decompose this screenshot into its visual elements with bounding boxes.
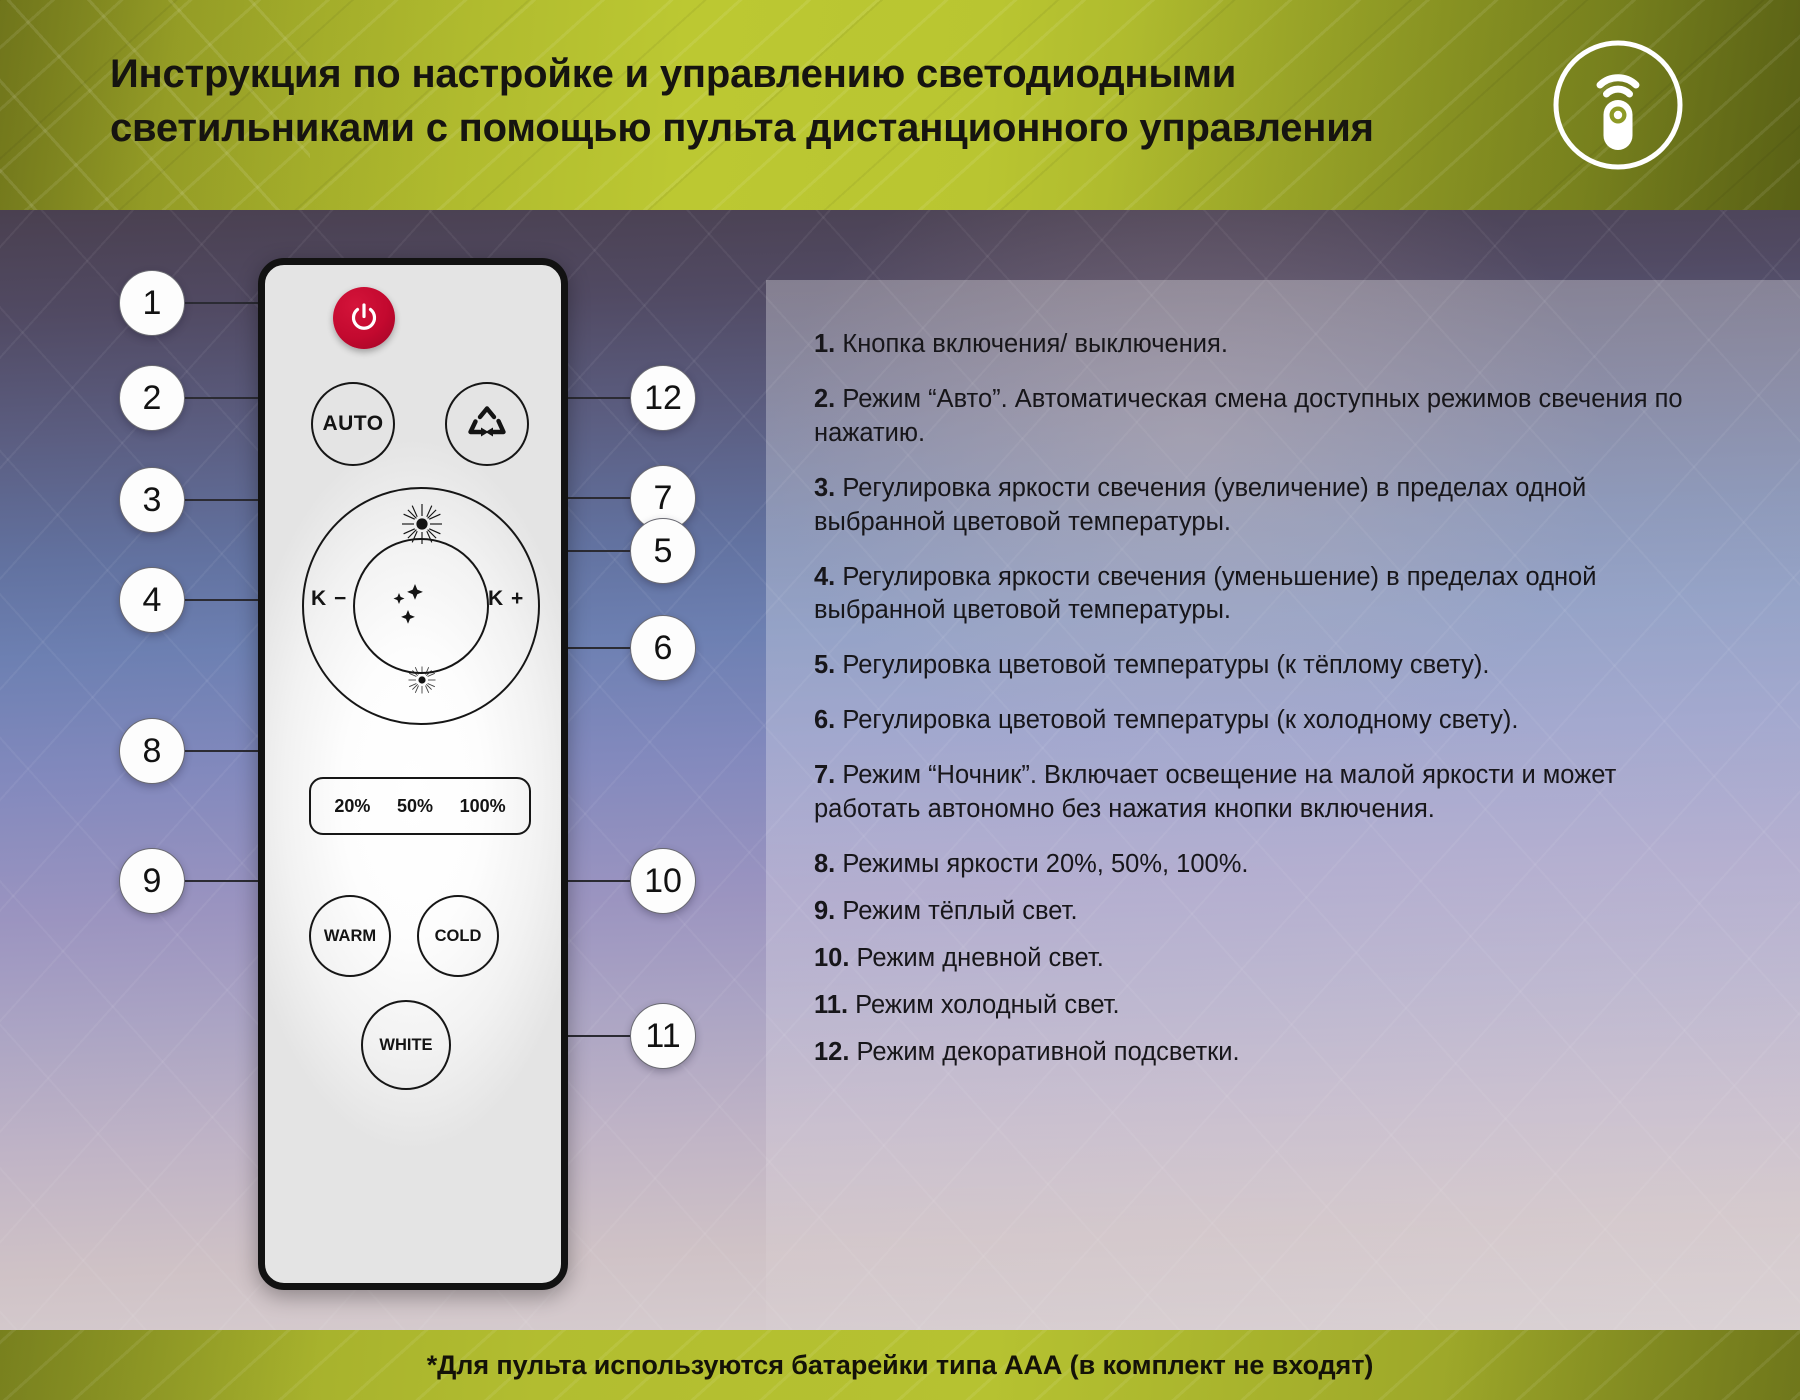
callout-11[interactable]: 11 [630,1003,696,1069]
callout-2[interactable]: 2 [119,365,185,431]
legend-item-10: 10. Режим дневной свет. [814,942,1694,976]
white-button-label: WHITE [379,1036,432,1055]
level-20[interactable]: 20% [334,796,370,817]
legend-item-5: 5. Регулировка цветовой температуры (к т… [814,649,1694,683]
decorative-mode-button[interactable] [445,382,529,466]
callout-8[interactable]: 8 [119,718,185,784]
legend-num-6: 6. [814,706,835,734]
legend-num-8: 8. [814,850,835,878]
legend-num-4: 4. [814,563,835,591]
legend-num-7: 7. [814,761,835,789]
legend-text-7: Режим “Ночник”. Включает освещение на ма… [814,761,1616,823]
callout-10[interactable]: 10 [630,848,696,914]
legend-item-1: 1. Кнопка включения/ выключения. [814,328,1694,362]
page-title-line-1: Инструкция по настройке и управлению све… [110,48,1530,102]
remote-control-device: AUTO [258,258,568,1290]
legend-num-10: 10. [814,944,849,972]
callout-1[interactable]: 1 [119,270,185,336]
legend-panel: 1. Кнопка включения/ выключения. 2. Режи… [766,280,1800,1330]
recycle-loop-icon [462,399,512,449]
legend-item-12: 12. Режим декоративной подсветки. [814,1036,1694,1070]
auto-button-label: AUTO [322,412,383,436]
legend-num-1: 1. [814,330,835,358]
page-header: Инструкция по настройке и управлению све… [0,0,1800,210]
warm-light-button[interactable]: WARM [309,895,391,977]
white-light-button[interactable]: WHITE [361,1000,451,1090]
battery-note: *Для пульта используются батарейки типа … [427,1350,1373,1381]
legend-text-4: Регулировка яркости свечения (уменьшение… [814,563,1596,625]
legend-item-3: 3. Регулировка яркости свечения (увеличе… [814,472,1694,540]
legend-num-2: 2. [814,385,835,413]
kelvin-minus-label[interactable]: K − [311,587,347,611]
night-mode-button[interactable] [353,538,489,674]
kelvin-plus-label[interactable]: K + [488,587,524,611]
legend-text-6: Регулировка цветовой температуры (к холо… [835,706,1518,734]
power-button[interactable] [333,287,395,349]
callout-12[interactable]: 12 [630,365,696,431]
auto-mode-button[interactable]: AUTO [311,382,395,466]
legend-num-12: 12. [814,1038,849,1066]
power-icon [347,301,381,335]
legend-num-5: 5. [814,651,835,679]
legend-text-8: Режимы яркости 20%, 50%, 100%. [835,850,1248,878]
legend-text-3: Регулировка яркости свечения (увеличение… [814,474,1586,536]
legend-text-5: Регулировка цветовой температуры (к тёпл… [835,651,1489,679]
legend-num-3: 3. [814,474,835,502]
legend-item-8: 8. Режимы яркости 20%, 50%, 100%. [814,848,1694,882]
remote-control-signal-icon [1545,32,1691,178]
legend-text-12: Режим декоративной подсветки. [849,1038,1239,1066]
legend-text-10: Режим дневной свет. [849,944,1103,972]
legend-text-2: Режим “Авто”. Автоматическая смена досту… [814,385,1683,447]
page-footer: *Для пульта используются батарейки типа … [0,1330,1800,1400]
page-title-line-2: светильниками с помощью пульта дистанцио… [110,102,1530,156]
callout-6[interactable]: 6 [630,615,696,681]
legend-item-11: 11. Режим холодный свет. [814,989,1694,1023]
level-100[interactable]: 100% [460,796,506,817]
level-50[interactable]: 50% [397,796,433,817]
legend-text-1: Кнопка включения/ выключения. [835,330,1228,358]
cold-button-label: COLD [435,927,482,946]
legend-item-4: 4. Регулировка яркости свечения (уменьше… [814,561,1694,629]
legend-item-6: 6. Регулировка цветовой температуры (к х… [814,704,1694,738]
warm-button-label: WARM [324,927,376,946]
legend-text-11: Режим холодный свет. [848,991,1120,1019]
page-title: Инструкция по настройке и управлению све… [110,48,1530,155]
legend-num-11: 11. [814,991,848,1019]
callout-9[interactable]: 9 [119,848,185,914]
legend-item-2: 2. Режим “Авто”. Автоматическая смена до… [814,383,1694,451]
cold-light-button[interactable]: COLD [417,895,499,977]
legend-text-9: Режим тёплый свет. [835,897,1077,925]
callout-5[interactable]: 5 [630,518,696,584]
legend-num-9: 9. [814,897,835,925]
main-illustration-area: AUTO [0,210,1800,1330]
legend-item-9: 9. Режим тёплый свет. [814,895,1694,929]
callout-3[interactable]: 3 [119,467,185,533]
callout-4[interactable]: 4 [119,567,185,633]
legend-item-7: 7. Режим “Ночник”. Включает освещение на… [814,759,1694,827]
moon-stars-icon [375,566,467,646]
brightness-levels-button[interactable]: 20% 50% 100% [309,777,531,835]
